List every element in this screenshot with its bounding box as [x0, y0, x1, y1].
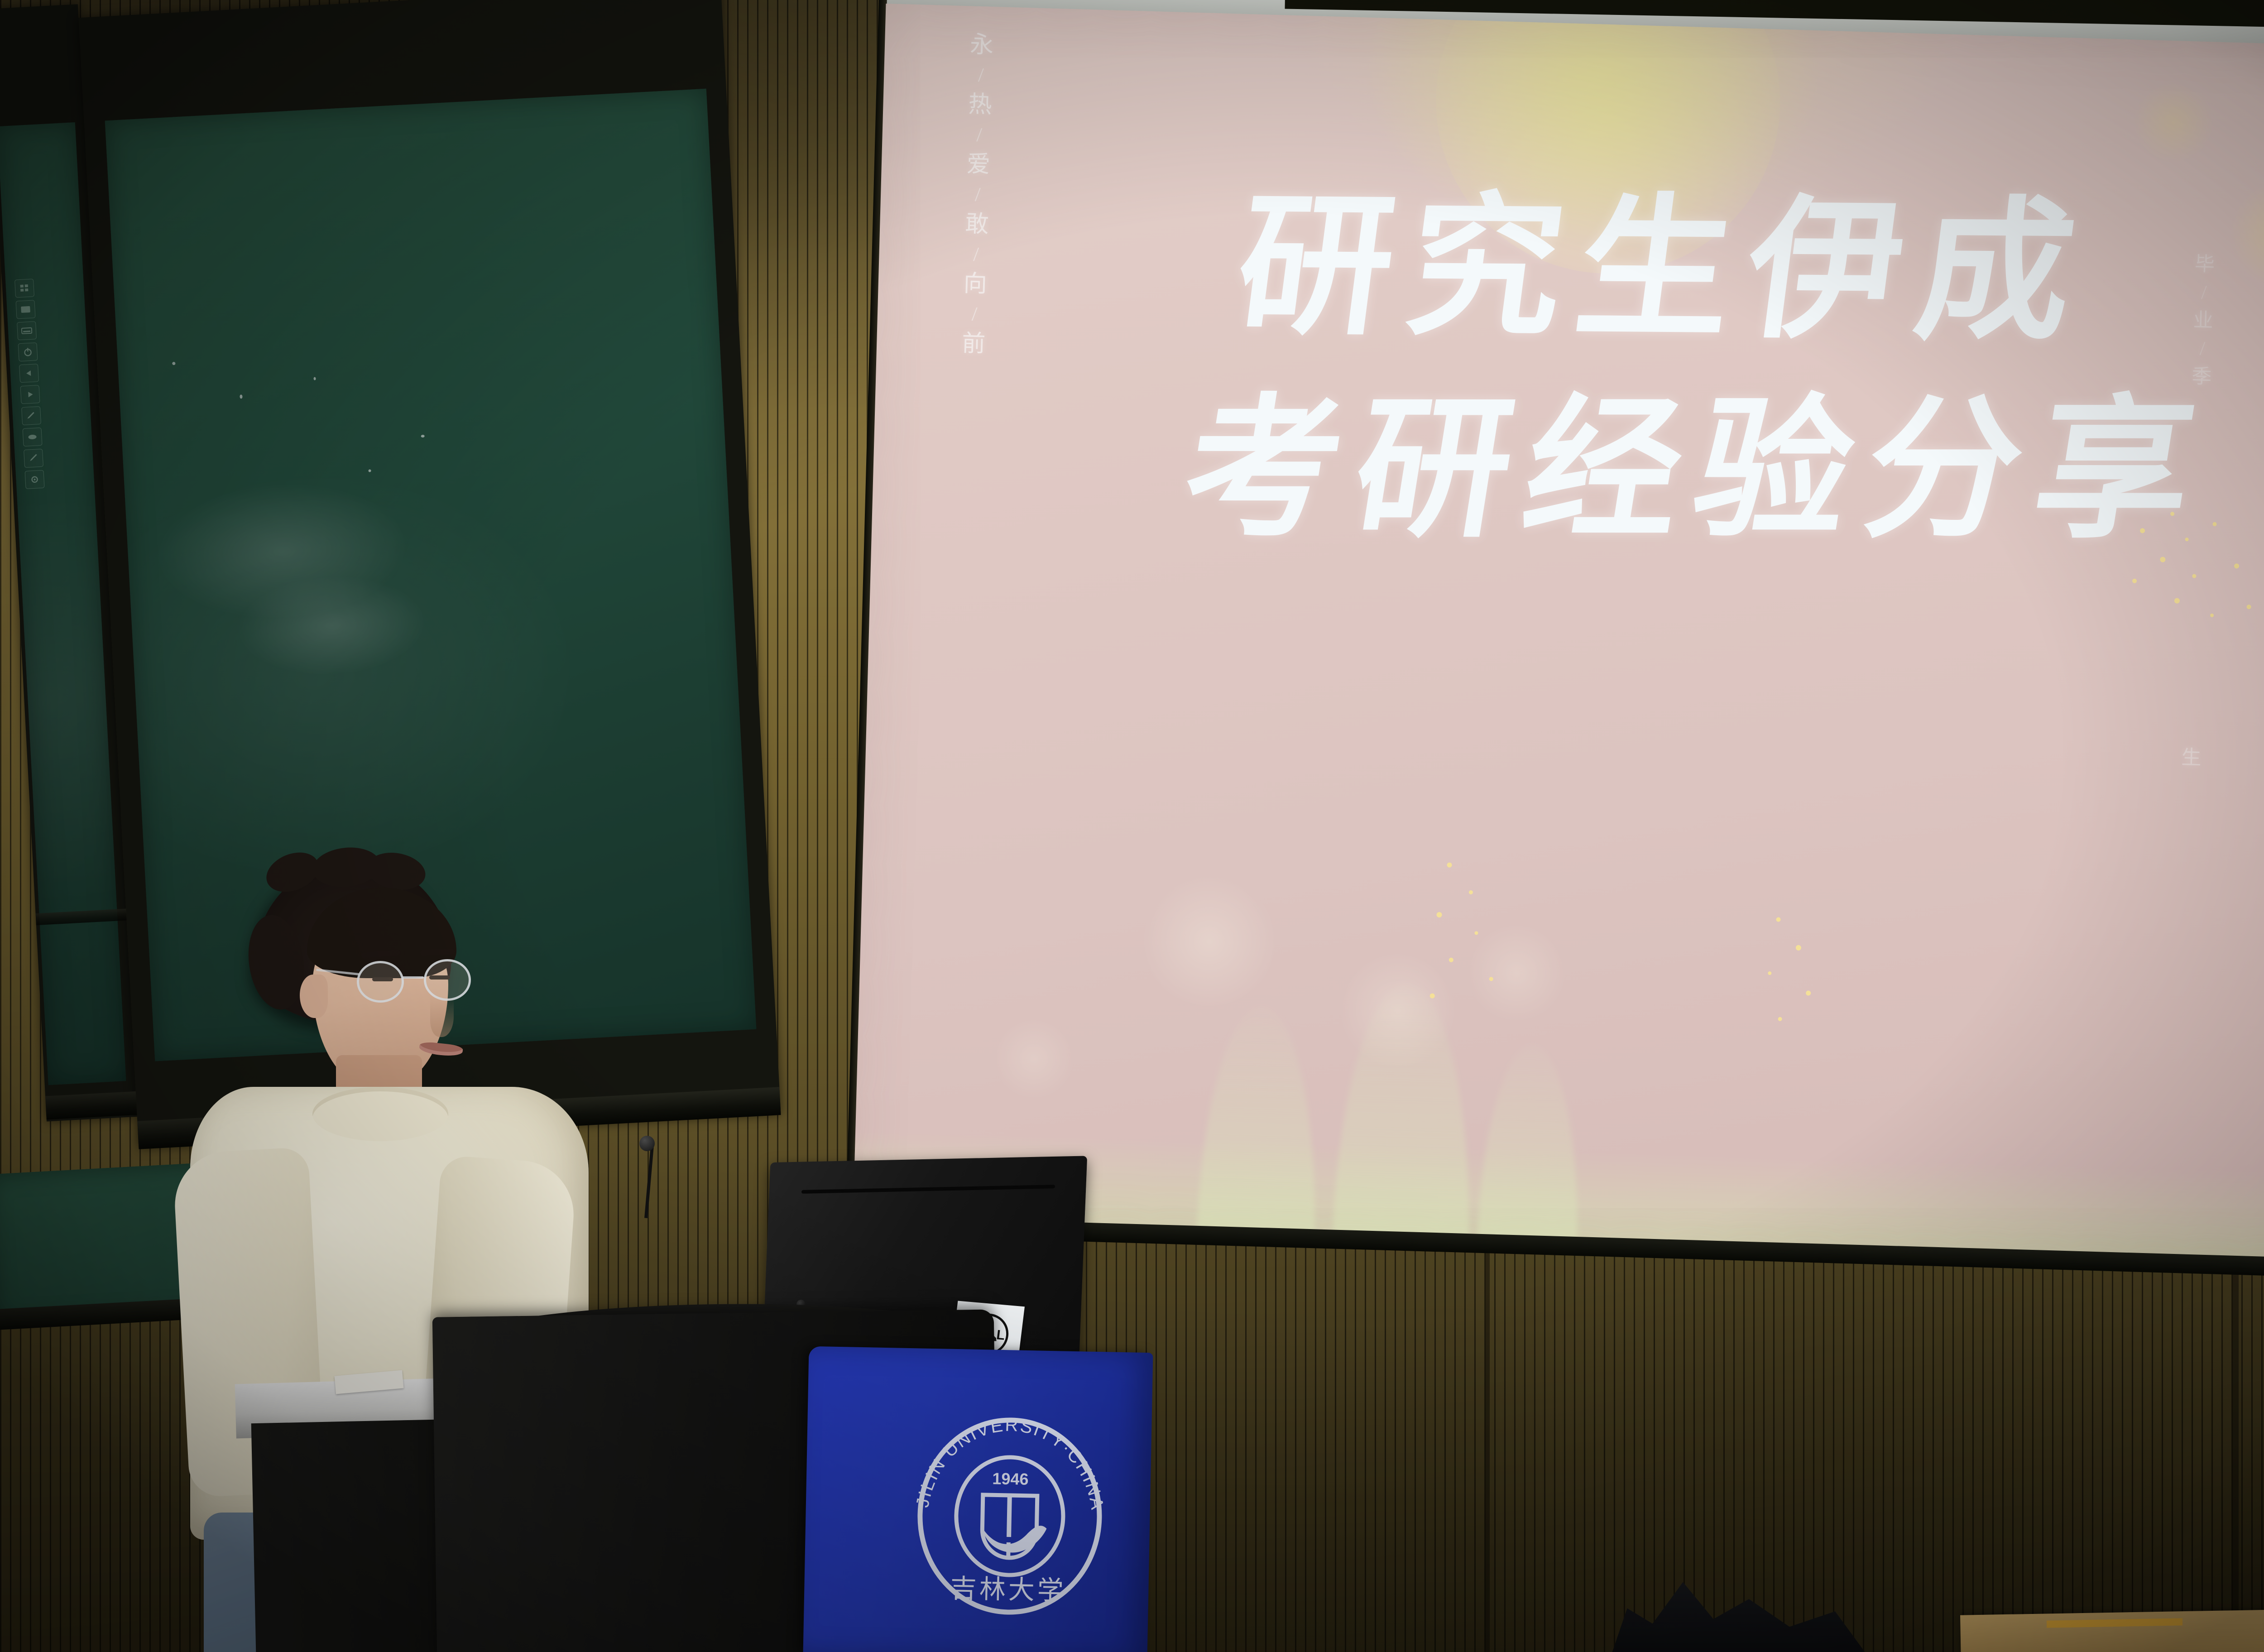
vtext-char: 永 [969, 33, 993, 57]
slide-title-line1: 研究生伊成 [1226, 141, 2104, 370]
hill-shape [1197, 1005, 1321, 1244]
slide-vertical-text-right: 毕 / 业 / 季 [2191, 254, 2215, 395]
bokeh-blob [1140, 872, 1279, 1012]
vtext-char: 前 [962, 332, 986, 356]
vtext-char: 毕 [2194, 254, 2215, 274]
glasses-bridge [402, 976, 424, 979]
vtext-sep: / [978, 65, 984, 85]
vtext-sep: / [976, 125, 982, 145]
cardboard-box [1960, 1609, 2264, 1652]
slide-vertical-text-left: 永 / 热 / 爱 / 敢 / 向 / 前 [961, 33, 994, 364]
bokeh-blob [2228, 178, 2264, 290]
svg-text:1946: 1946 [992, 1469, 1029, 1489]
slide-surface: 研究生伊成 考研经验分享 永 / 热 / 爱 / 敢 / 向 / 前 毕 / 业 [853, 4, 2264, 1263]
eyebrow-right [420, 949, 455, 956]
bokeh-blob [2132, 80, 2216, 164]
highlighter-icon[interactable] [24, 449, 43, 468]
previous-icon[interactable] [19, 364, 39, 383]
slide-vertical-text-right-lower: 生 [2181, 748, 2202, 776]
lens-left [357, 961, 404, 1003]
settings-icon[interactable] [25, 470, 45, 489]
grid-icon[interactable] [14, 279, 34, 298]
vtext-char: 爱 [966, 153, 990, 177]
vtext-sep: / [973, 245, 979, 264]
vtext-sep: / [974, 185, 980, 205]
slide-title-line2: 考研经验分享 [1171, 344, 2227, 567]
eraser-icon[interactable] [23, 427, 43, 447]
vtext-char: 季 [2192, 366, 2212, 387]
vtext-sep: / [2201, 283, 2207, 303]
lens-right [424, 959, 471, 1001]
vtext-sep: / [971, 304, 977, 324]
hill-shape [1477, 1045, 1583, 1247]
power-icon[interactable] [18, 342, 38, 361]
display-icon[interactable] [16, 300, 36, 319]
svg-text:吉林大学: 吉林大学 [950, 1574, 1066, 1606]
vtext-char: 业 [2193, 310, 2213, 331]
pen-icon[interactable] [21, 406, 41, 425]
jilin-university-seal: JILIN UNIVERSITY·CHINA 1946 吉林大学 [904, 1407, 1116, 1623]
bokeh-blob [992, 1017, 1076, 1101]
chalk-tray-left [45, 1091, 137, 1120]
sweater-collar [312, 1087, 448, 1141]
vtext-char: 向 [963, 272, 987, 296]
bokeh-blob [1465, 922, 1568, 1024]
next-icon[interactable] [20, 385, 40, 404]
vtext-char: 热 [968, 93, 992, 117]
classroom-photo-scene: 研究生伊成 考研经验分享 永 / 热 / 爱 / 敢 / 向 / 前 毕 / 业 [0, 0, 2264, 1652]
microphone-head [639, 1136, 655, 1151]
ear [300, 975, 328, 1018]
nose [430, 996, 454, 1037]
eyeglasses [357, 961, 475, 1003]
vtext-char: 生 [2181, 748, 2202, 768]
vtext-char: 敢 [965, 212, 989, 236]
keyboard-icon[interactable] [17, 321, 37, 340]
vtext-sep: / [2199, 339, 2205, 359]
